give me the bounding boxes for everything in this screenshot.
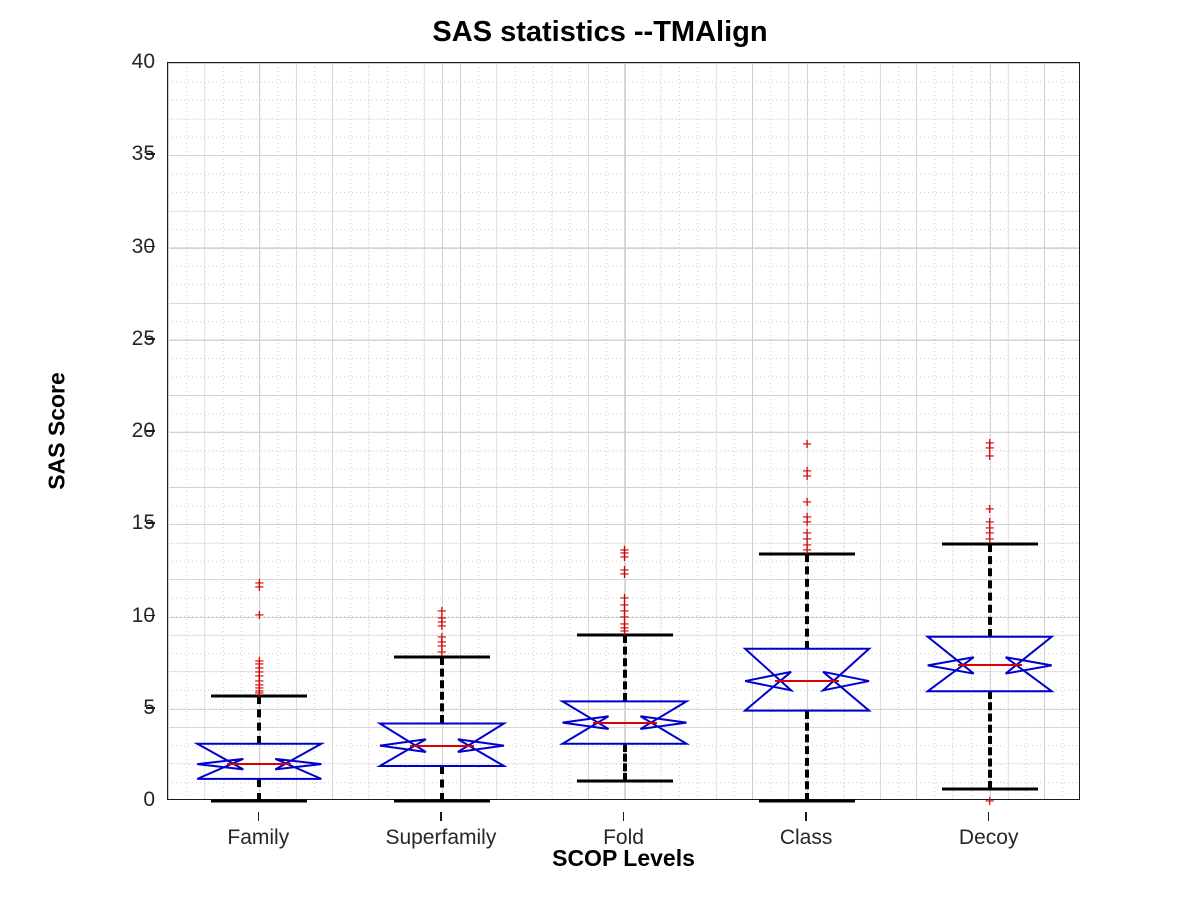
y-axis-tick-labels: 0510152025303540 — [100, 62, 155, 800]
y-tick-mark — [146, 246, 155, 248]
x-tick-mark — [258, 812, 260, 821]
outlier-marker — [985, 793, 995, 810]
boxplot-decoy[interactable] — [168, 63, 1079, 799]
y-tick-mark — [146, 430, 155, 432]
y-tick-label: 0 — [143, 788, 155, 812]
x-tick-mark — [988, 812, 990, 821]
y-tick-mark — [146, 522, 155, 524]
y-axis-label: SAS Score — [43, 372, 70, 490]
box-outline — [168, 63, 1081, 801]
y-tick-mark — [146, 707, 155, 709]
y-axis-label-holder: SAS Score — [55, 62, 95, 800]
y-tick-mark — [146, 615, 155, 617]
plot-area — [167, 62, 1080, 800]
y-tick-mark — [146, 153, 155, 155]
x-tick-mark — [805, 812, 807, 821]
median-line — [958, 664, 1022, 666]
outlier-marker — [985, 501, 995, 518]
y-tick-label: 40 — [132, 50, 155, 74]
x-tick-mark — [440, 812, 442, 821]
x-axis-tick-labels: FamilySuperfamilyFoldClassDecoy — [167, 812, 1080, 842]
y-tick-mark — [146, 338, 155, 340]
chart-title: SAS statistics --TMAlign — [0, 16, 1200, 49]
x-tick-mark — [623, 812, 625, 821]
outlier-marker — [985, 435, 995, 452]
x-axis-label: SCOP Levels — [167, 845, 1080, 872]
chart-figure: SAS statistics --TMAlign SAS Score 05101… — [0, 0, 1200, 900]
